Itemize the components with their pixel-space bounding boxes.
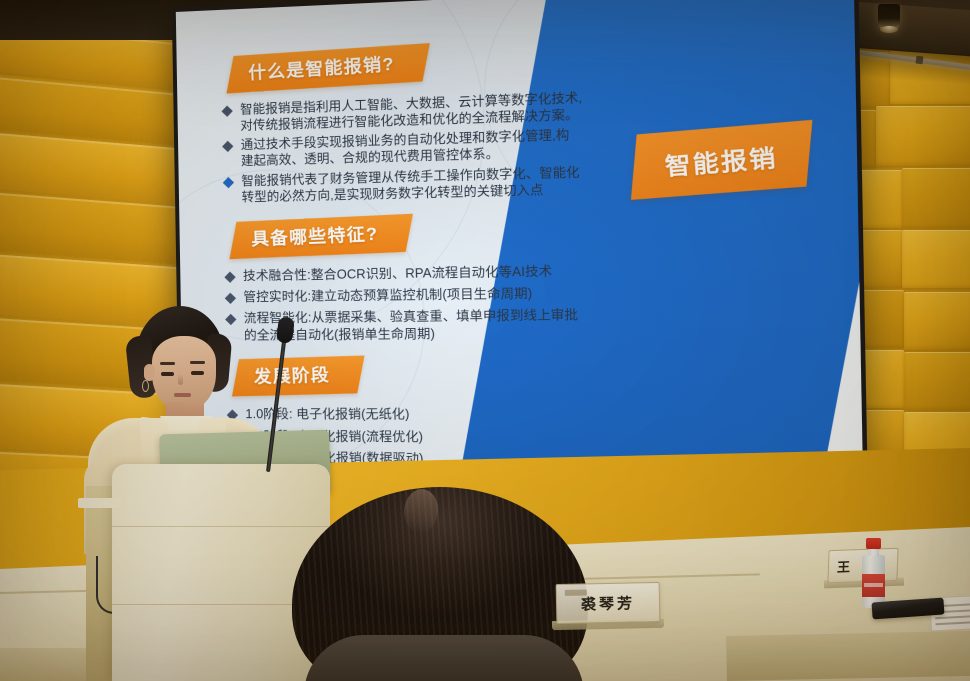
bullet-line: 管控实时化:建立动态预算监控机制(项目生命周期) [243, 285, 532, 305]
audience-shoulders [304, 635, 584, 681]
water-bottle[interactable] [862, 538, 885, 608]
presenter-ear [144, 364, 155, 381]
wall-panel [876, 106, 970, 166]
bullet-item: 技术融合性:整合OCR识别、RPA流程自动化等AI技术 [224, 262, 615, 285]
bullet-text: 通过技术手段实现报销业务的自动化处理和数字化管理,构 建起高效、透明、合规的现代… [241, 127, 570, 170]
presenter-eye [161, 372, 174, 376]
audience-member [292, 487, 588, 681]
bottle-neck [868, 548, 879, 556]
presenter-mouth [174, 393, 191, 397]
wall-panel [904, 352, 970, 410]
earring-icon [142, 380, 149, 392]
placard-logo [565, 589, 587, 595]
slide-badge-label: 智能报销 [663, 138, 778, 183]
bullet-item: 管控实时化:建立动态预算监控机制(项目生命周期) [224, 284, 615, 306]
diamond-bullet-icon [224, 271, 235, 282]
bullet-text: 智能报销代表了财务管理从传统手工操作向数字化、智能化 转型的必然方向,是实现财务… [241, 164, 580, 206]
bullet-list: 智能报销是指利用人工智能、大数据、云计算等数字化技术, 对传统报销流程进行智能化… [221, 89, 613, 206]
bullet-item: 智能报销代表了财务管理从传统手工操作向数字化、智能化 转型的必然方向,是实现财务… [222, 163, 613, 206]
bullet-text: 技术融合性:整合OCR识别、RPA流程自动化等AI技术 [243, 263, 553, 284]
name-placard-front: 裘琴芳 [556, 582, 661, 624]
presenter-brow [160, 362, 175, 365]
name-placard-front-text: 裘琴芳 [581, 592, 635, 614]
diamond-bullet-icon [222, 106, 233, 117]
bottle-cap [866, 538, 881, 549]
diamond-bullet-icon [225, 293, 236, 304]
diamond-bullet-icon [223, 176, 234, 187]
diamond-bullet-icon [222, 141, 233, 152]
section-heading-text: 什么是智能报销? [248, 51, 396, 86]
slide-section-1: 什么是智能报销? 智能报销是指利用人工智能、大数据、云计算等数字化技术, 对传统… [214, 38, 613, 206]
podium-shelf [78, 498, 120, 508]
name-placard-right-text: 王 [837, 556, 851, 575]
section-heading-text: 具备哪些特征? [251, 220, 379, 251]
presenter-brow [190, 361, 205, 364]
presenter-nose [178, 374, 183, 385]
wall-panel [904, 292, 970, 350]
table-front-edge [726, 631, 970, 681]
wall-panel [902, 230, 970, 288]
presenter-eye [191, 371, 204, 375]
bullet-line: 技术融合性:整合OCR识别、RPA流程自动化等AI技术 [243, 263, 553, 284]
wall-panel [902, 168, 970, 228]
conference-room-scene: 智能报销 什么是智能报销? 智能报销是指利用人工智能、大数据、云计算等数字化技术… [0, 0, 970, 681]
spotlight-icon [878, 4, 900, 30]
section-heading-banner: 具备哪些特征? [229, 213, 413, 258]
slide-badge: 智能报销 [631, 120, 813, 200]
bottle-label [862, 574, 885, 597]
bullet-text: 管控实时化:建立动态预算监控机制(项目生命周期) [243, 285, 532, 305]
